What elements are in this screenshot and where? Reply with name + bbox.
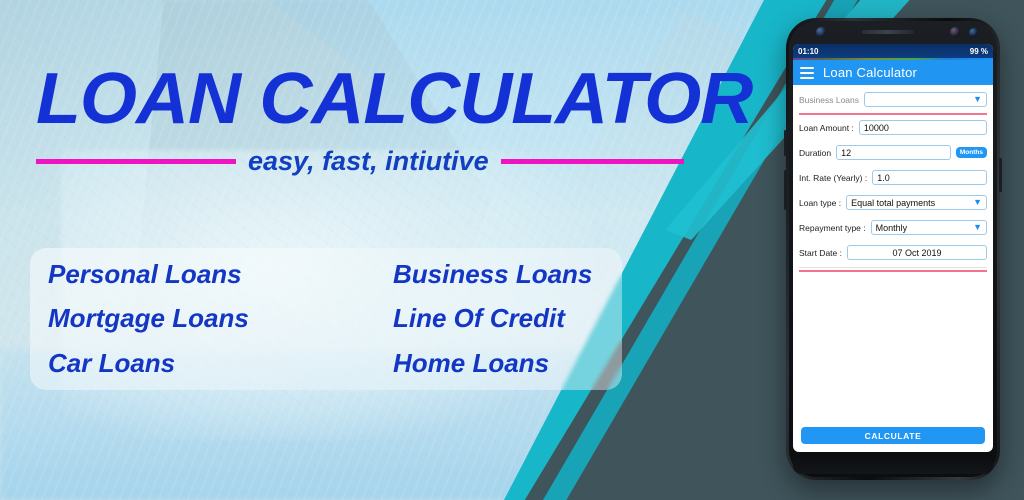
iris-scanner-icon [950,27,960,37]
loan-types-left-column: Personal Loans Mortgage Loans Car Loans [38,252,383,386]
chevron-down-icon: ▼ [973,198,982,207]
loan-amount-value: 10000 [864,123,889,133]
loan-type-item: Car Loans [38,348,383,379]
chevron-down-icon: ▼ [973,95,982,104]
phone-mockup: 01:10 99 % Loan Calculator Business Loan… [786,18,1000,480]
phone-screen: 01:10 99 % Loan Calculator Business Loan… [793,44,993,452]
category-select[interactable]: ▼ [864,92,987,107]
duration-value: 12 [841,148,851,158]
interest-rate-input[interactable]: 1.0 [872,170,987,185]
tagline-rule-left [36,159,236,164]
duration-row: Duration 12 Months [793,140,993,165]
start-date-input[interactable]: 07 Oct 2019 [847,245,987,260]
repayment-type-value: Monthly [876,223,908,233]
chevron-down-icon: ▼ [973,223,982,232]
app-bar: Loan Calculator [793,60,993,85]
promo-banner: LOAN CALCULATOR easy, fast, intiutive Pe… [0,0,1024,500]
page-title: LOAN CALCULATOR [36,62,709,136]
app-bar-title: Loan Calculator [823,65,917,80]
loan-amount-row: Loan Amount : 10000 [793,115,993,140]
status-bar: 01:10 99 % [793,44,993,58]
phone-top-bar [786,18,1000,44]
loan-types-card: Personal Loans Mortgage Loans Car Loans … [30,248,622,390]
start-date-row: Start Date : 07 Oct 2019 [793,240,993,265]
earpiece-speaker-icon [862,30,914,34]
status-bar-time: 01:10 [798,47,818,56]
results-area [793,272,993,427]
calculate-button-wrapper: CALCULATE [793,427,993,452]
loan-type-item: Home Loans [383,348,622,379]
loan-amount-label: Loan Amount : [799,123,854,133]
tagline-row: easy, fast, intiutive [36,146,684,177]
loan-types-right-column: Business Loans Line Of Credit Home Loans [383,252,622,386]
repayment-type-select[interactable]: Monthly ▼ [871,220,987,235]
tagline-rule-right [501,159,684,164]
repayment-type-label: Repayment type : [799,223,866,233]
loan-type-item: Business Loans [383,259,622,290]
loan-type-item: Line Of Credit [383,303,622,334]
phone-button-power[interactable] [999,158,1002,192]
interest-rate-label: Int. Rate (Yearly) : [799,173,867,183]
calculate-button[interactable]: CALCULATE [801,427,985,444]
phone-chin [793,454,993,474]
interest-rate-row: Int. Rate (Yearly) : 1.0 [793,165,993,190]
start-date-label: Start Date : [799,248,842,258]
duration-label: Duration [799,148,831,158]
loan-amount-input[interactable]: 10000 [859,120,987,135]
hamburger-icon[interactable] [800,67,814,79]
start-date-value: 07 Oct 2019 [892,248,941,258]
loan-type-item: Personal Loans [38,259,383,290]
loan-type-item: Mortgage Loans [38,303,383,334]
category-row: Business Loans ▼ [793,87,993,112]
loan-type-value: Equal total payments [851,198,935,208]
category-label: Business Loans [799,95,859,105]
interest-rate-value: 1.0 [877,173,890,183]
phone-button-volume-down[interactable] [784,170,787,210]
tagline: easy, fast, intiutive [248,146,489,177]
front-camera-icon [816,27,826,37]
duration-input[interactable]: 12 [836,145,951,160]
repayment-type-row: Repayment type : Monthly ▼ [793,215,993,240]
hero-block: LOAN CALCULATOR easy, fast, intiutive [36,62,696,177]
phone-button-volume-up[interactable] [784,130,787,156]
loan-form: Business Loans ▼ Loan Amount : 10000 Dur… [793,85,993,272]
loan-type-label: Loan type : [799,198,841,208]
status-bar-battery: 99 % [970,47,988,56]
form-divider [799,267,987,268]
loan-type-select[interactable]: Equal total payments ▼ [846,195,987,210]
loan-type-row: Loan type : Equal total payments ▼ [793,190,993,215]
duration-unit-badge[interactable]: Months [956,147,987,158]
proximity-sensor-icon [969,28,978,37]
